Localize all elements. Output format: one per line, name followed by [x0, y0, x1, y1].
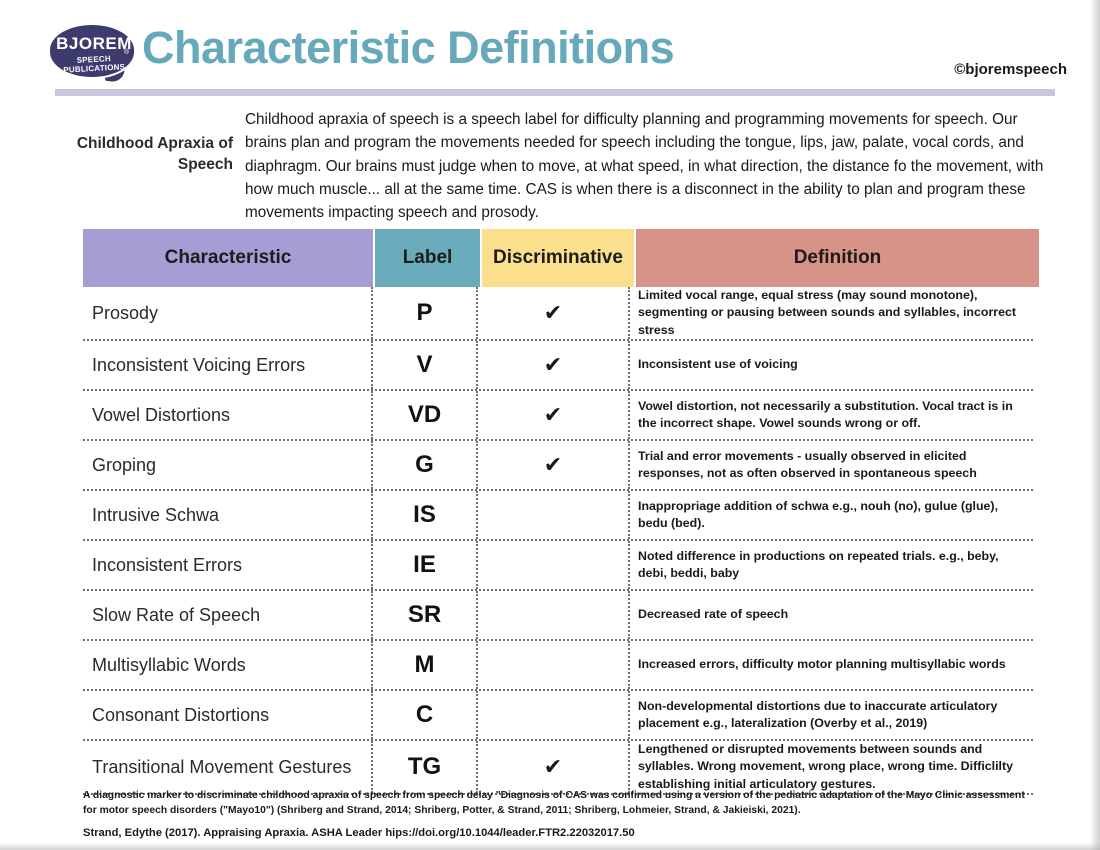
cell-characteristic: Slow Rate of Speech	[83, 591, 373, 639]
checkmark-icon: ✔	[544, 354, 562, 376]
table-body: ProsodyP✔Limited vocal range, equal stre…	[83, 287, 1033, 795]
intro-paragraph: Childhood apraxia of speech is a speech …	[245, 108, 1045, 224]
cell-discriminative	[478, 541, 630, 589]
cell-definition: Decreased rate of speech	[630, 591, 1033, 639]
cell-discriminative: ✔	[478, 341, 630, 389]
cell-characteristic: Prosody	[83, 287, 373, 339]
footnote-text: A diagnostic marker to discriminate chil…	[83, 789, 1038, 818]
table-row: Transitional Movement GesturesTG✔Lengthe…	[83, 741, 1033, 795]
cell-definition: Trial and error movements - usually obse…	[630, 441, 1033, 489]
cell-discriminative: ✔	[478, 741, 630, 793]
checkmark-icon: ✔	[544, 756, 562, 778]
column-header-discriminative: Discriminative	[482, 229, 634, 287]
cell-discriminative	[478, 491, 630, 539]
page-title: Characteristic Definitions	[142, 22, 674, 74]
document-page: BJOREM ® SPEECH PUBLICATIONS Characteris…	[0, 0, 1100, 850]
citation-text: Strand, Edythe (2017). Appraising Apraxi…	[83, 827, 1038, 839]
cell-definition: Inappropriage addition of schwa e.g., no…	[630, 491, 1033, 539]
cell-definition: Vowel distortion, not necessarily a subs…	[630, 391, 1033, 439]
cell-definition: Noted difference in productions on repea…	[630, 541, 1033, 589]
cell-label: P	[373, 287, 478, 339]
cell-characteristic: Inconsistent Voicing Errors	[83, 341, 373, 389]
document-footer: A diagnostic marker to discriminate chil…	[83, 789, 1038, 839]
intro-label: Childhood Apraxia of Speech	[55, 108, 245, 176]
table-row: Vowel DistortionsVD✔Vowel distortion, no…	[83, 391, 1033, 441]
cell-discriminative: ✔	[478, 391, 630, 439]
table-row: Intrusive SchwaISInappropriage addition …	[83, 491, 1033, 541]
cell-characteristic: Consonant Distortions	[83, 691, 373, 739]
cell-characteristic: Groping	[83, 441, 373, 489]
cell-label: TG	[373, 741, 478, 793]
cell-label: IS	[373, 491, 478, 539]
checkmark-icon: ✔	[544, 302, 562, 324]
cell-definition: Inconsistent use of voicing	[630, 341, 1033, 389]
table-row: Multisyllabic WordsMIncreased errors, di…	[83, 641, 1033, 691]
table-row: Inconsistent Voicing ErrorsV✔Inconsisten…	[83, 341, 1033, 391]
cell-discriminative	[478, 691, 630, 739]
table-row: ProsodyP✔Limited vocal range, equal stre…	[83, 287, 1033, 341]
cell-definition: Non-developmental distortions due to ina…	[630, 691, 1033, 739]
cell-label: M	[373, 641, 478, 689]
characteristics-table: Characteristic Label Discriminative Defi…	[83, 229, 1033, 795]
column-header-characteristic: Characteristic	[83, 229, 373, 287]
column-header-definition: Definition	[636, 229, 1039, 287]
table-row: Inconsistent ErrorsIENoted difference in…	[83, 541, 1033, 591]
document-header: BJOREM ® SPEECH PUBLICATIONS Characteris…	[0, 0, 1100, 100]
checkmark-icon: ✔	[544, 454, 562, 476]
table-row: GropingG✔Trial and error movements - usu…	[83, 441, 1033, 491]
cell-discriminative	[478, 641, 630, 689]
cell-label: SR	[373, 591, 478, 639]
bjorem-speech-publications-logo: BJOREM ® SPEECH PUBLICATIONS	[48, 23, 144, 85]
cell-discriminative	[478, 591, 630, 639]
table-row: Consonant DistortionsCNon-developmental …	[83, 691, 1033, 741]
table-row: Slow Rate of SpeechSRDecreased rate of s…	[83, 591, 1033, 641]
cell-characteristic: Intrusive Schwa	[83, 491, 373, 539]
cell-label: V	[373, 341, 478, 389]
checkmark-icon: ✔	[544, 404, 562, 426]
cell-definition: Increased errors, difficulty motor plann…	[630, 641, 1033, 689]
cell-label: IE	[373, 541, 478, 589]
intro-section: Childhood Apraxia of Speech Childhood ap…	[55, 108, 1045, 224]
cell-definition: Limited vocal range, equal stress (may s…	[630, 287, 1033, 339]
column-header-label: Label	[375, 229, 480, 287]
cell-characteristic: Inconsistent Errors	[83, 541, 373, 589]
cell-label: G	[373, 441, 478, 489]
cell-discriminative: ✔	[478, 441, 630, 489]
logo-speech-bubble-icon: BJOREM ® SPEECH PUBLICATIONS	[48, 23, 136, 79]
cell-discriminative: ✔	[478, 287, 630, 339]
cell-definition: Lengthened or disrupted movements betwee…	[630, 741, 1033, 793]
cell-characteristic: Transitional Movement Gestures	[83, 741, 373, 793]
cell-label: VD	[373, 391, 478, 439]
header-divider	[55, 89, 1055, 96]
cell-characteristic: Multisyllabic Words	[83, 641, 373, 689]
table-header-row: Characteristic Label Discriminative Defi…	[83, 229, 1033, 287]
cell-label: C	[373, 691, 478, 739]
cell-characteristic: Vowel Distortions	[83, 391, 373, 439]
logo-tagline: SPEECH PUBLICATIONS	[50, 53, 139, 76]
copyright-notice: ©bjoremspeech	[954, 61, 1067, 78]
